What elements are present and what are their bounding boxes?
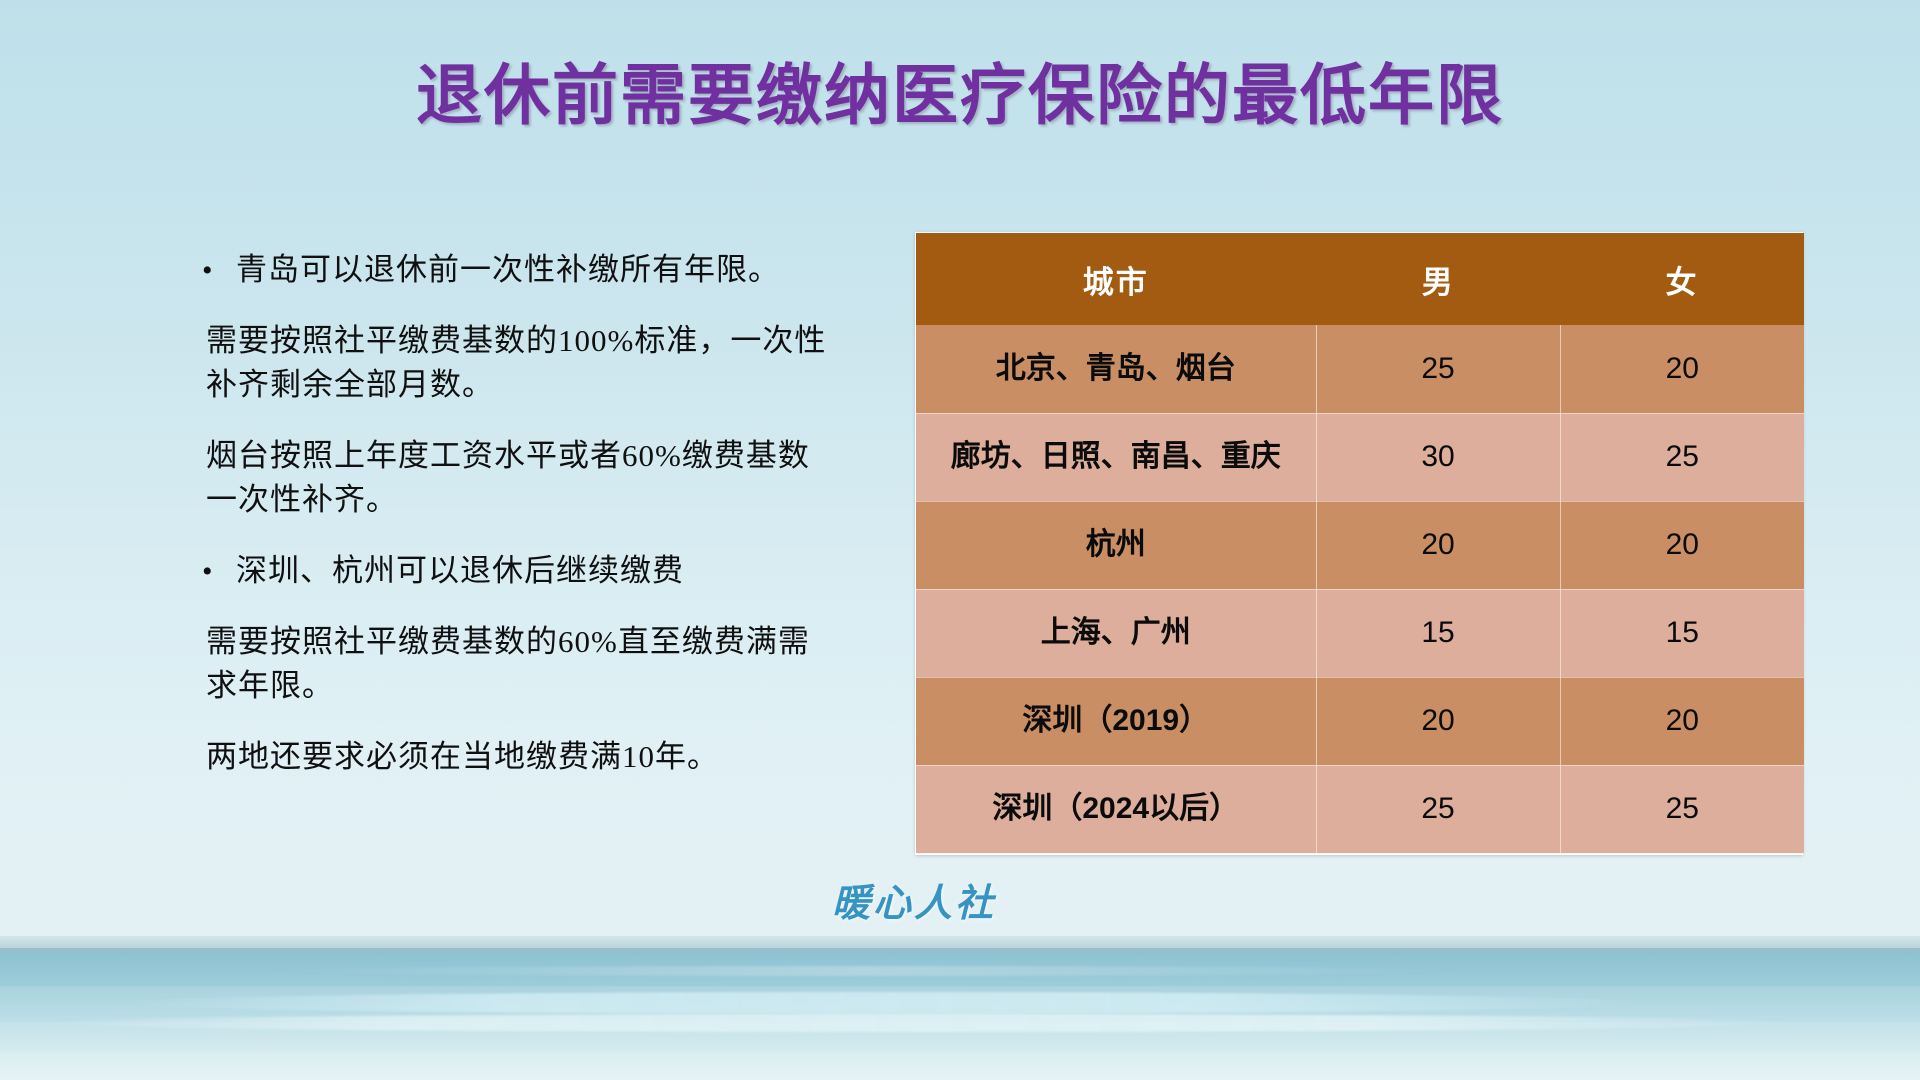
paragraph-2-text: 需要按照社平缴费基数的100%标准，一次性补齐剩余全部月数。 bbox=[206, 323, 826, 402]
slide-canvas: 退休前需要缴纳医疗保险的最低年限 • 青岛可以退休前一次性补缴所有年限。 需要按… bbox=[0, 0, 1920, 1080]
sea-streak-mid bbox=[115, 992, 1651, 1014]
paragraph-3: 烟台按照上年度工资水平或者60%缴费基数一次性补齐。 bbox=[196, 434, 836, 522]
column-header-male: 男 bbox=[1316, 233, 1560, 325]
sea-band-3 bbox=[0, 1022, 1920, 1056]
cell-female: 15 bbox=[1560, 589, 1804, 677]
cell-male: 25 bbox=[1316, 325, 1560, 413]
paragraph-4: • 深圳、杭州可以退休后继续缴费 bbox=[196, 549, 836, 593]
horizon-line bbox=[0, 948, 1920, 952]
table-row: 深圳（2024以后） 25 25 bbox=[916, 765, 1804, 853]
page-title: 退休前需要缴纳医疗保险的最低年限 bbox=[0, 58, 1920, 134]
paragraph-6-text: 两地还要求必须在当地缴费满10年。 bbox=[206, 739, 719, 774]
sea-streak-low bbox=[38, 1014, 1804, 1032]
body-text-column: • 青岛可以退休前一次性补缴所有年限。 需要按照社平缴费基数的100%标准，一次… bbox=[196, 248, 836, 806]
cell-female: 25 bbox=[1560, 413, 1804, 501]
table-header-row: 城市 男 女 bbox=[916, 233, 1804, 325]
cell-city: 杭州 bbox=[916, 501, 1316, 589]
cell-city: 上海、广州 bbox=[916, 589, 1316, 677]
paragraph-2: 需要按照社平缴费基数的100%标准，一次性补齐剩余全部月数。 bbox=[196, 319, 836, 407]
watermark-logo: 暖心人社 bbox=[832, 872, 996, 927]
column-header-female: 女 bbox=[1560, 233, 1804, 325]
cell-female: 20 bbox=[1560, 677, 1804, 765]
cell-female: 25 bbox=[1560, 765, 1804, 853]
cell-city: 北京、青岛、烟台 bbox=[916, 325, 1316, 413]
sea-band-2 bbox=[0, 986, 1920, 1026]
paragraph-5: 需要按照社平缴费基数的60%直至缴费满需求年限。 bbox=[196, 620, 836, 708]
table-row: 北京、青岛、烟台 25 20 bbox=[916, 325, 1804, 413]
paragraph-1-text: 青岛可以退休前一次性补缴所有年限。 bbox=[236, 252, 780, 287]
sea-band-1 bbox=[0, 952, 1920, 988]
table-row: 上海、广州 15 15 bbox=[916, 589, 1804, 677]
cell-city: 廊坊、日照、南昌、重庆 bbox=[916, 413, 1316, 501]
paragraph-6: 两地还要求必须在当地缴费满10年。 bbox=[196, 735, 836, 779]
table-body: 北京、青岛、烟台 25 20 廊坊、日照、南昌、重庆 30 25 杭州 20 2… bbox=[916, 325, 1804, 853]
paragraph-3-text: 烟台按照上年度工资水平或者60%缴费基数一次性补齐。 bbox=[206, 438, 810, 517]
paragraph-5-text: 需要按照社平缴费基数的60%直至缴费满需求年限。 bbox=[206, 624, 810, 703]
table-row: 杭州 20 20 bbox=[916, 501, 1804, 589]
paragraph-4-text: 深圳、杭州可以退休后继续缴费 bbox=[236, 553, 684, 588]
cell-male: 25 bbox=[1316, 765, 1560, 853]
cell-male: 20 bbox=[1316, 677, 1560, 765]
cell-female: 20 bbox=[1560, 501, 1804, 589]
minimum-years-table-container: 城市 男 女 北京、青岛、烟台 25 20 廊坊、日照、南昌、重庆 30 25 … bbox=[915, 232, 1803, 855]
minimum-years-table: 城市 男 女 北京、青岛、烟台 25 20 廊坊、日照、南昌、重庆 30 25 … bbox=[916, 233, 1804, 854]
horizon-haze bbox=[0, 936, 1920, 952]
cell-female: 20 bbox=[1560, 325, 1804, 413]
table-row: 深圳（2019） 20 20 bbox=[916, 677, 1804, 765]
sea-band-4 bbox=[0, 1052, 1920, 1080]
bullet-icon: • bbox=[202, 250, 214, 293]
column-header-city: 城市 bbox=[916, 233, 1316, 325]
cell-male: 30 bbox=[1316, 413, 1560, 501]
sea-streak-top bbox=[269, 966, 1459, 976]
bullet-icon: • bbox=[202, 551, 214, 594]
cell-city: 深圳（2019） bbox=[916, 677, 1316, 765]
cell-male: 15 bbox=[1316, 589, 1560, 677]
table-header: 城市 男 女 bbox=[916, 233, 1804, 325]
table-row: 廊坊、日照、南昌、重庆 30 25 bbox=[916, 413, 1804, 501]
cell-city: 深圳（2024以后） bbox=[916, 765, 1316, 853]
paragraph-1: • 青岛可以退休前一次性补缴所有年限。 bbox=[196, 248, 836, 292]
cell-male: 20 bbox=[1316, 501, 1560, 589]
